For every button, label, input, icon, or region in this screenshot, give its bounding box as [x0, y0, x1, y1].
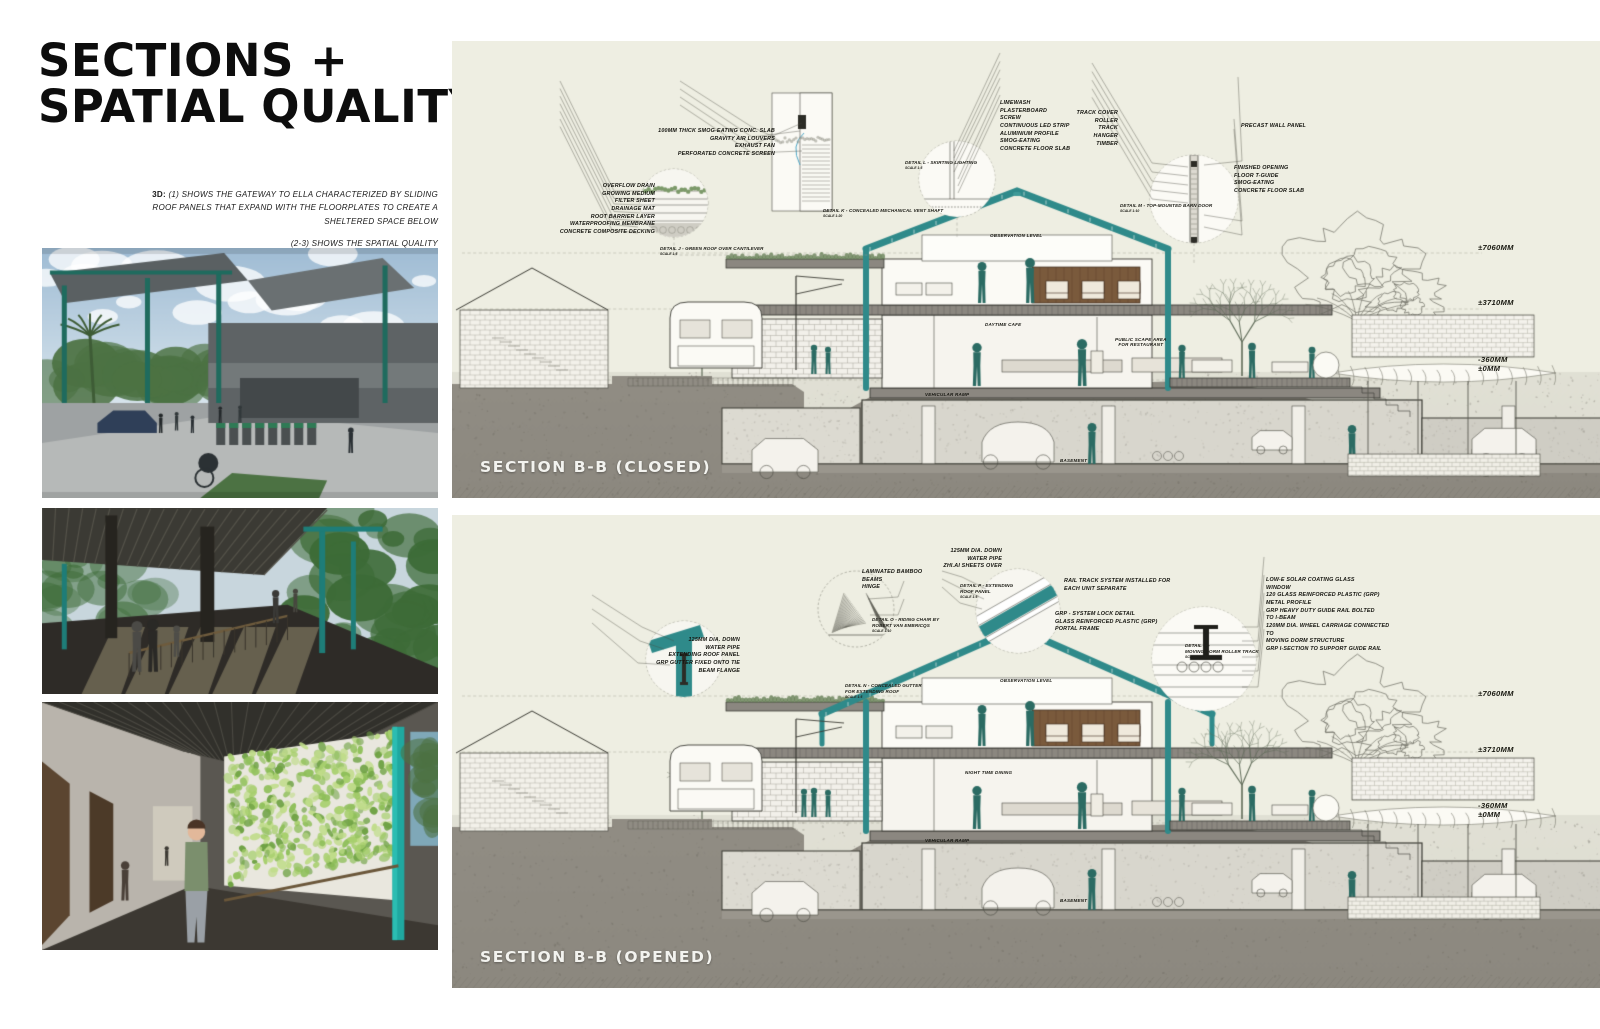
smog-eating-slab-callout: 100MM THICK SMOG-EATING CONC. SLAB GRAVI…	[650, 128, 775, 159]
caption-main-line: 3D: (1) SHOWS THE GATEWAY TO ELLA CHARAC…	[150, 188, 438, 228]
walkway-render	[42, 508, 438, 694]
moving-dorm-roller-callout: LOW-E SOLAR COATING GLASS WINDOW 120 GLA…	[1266, 577, 1390, 654]
detail-scale-note: SCALE 1:5	[960, 595, 1013, 600]
detail-q-caption: DETAIL Q - MOVING DORM ROLLER TRACKSCALE…	[1185, 643, 1259, 660]
level-marker: -360MM ±0MM	[1478, 801, 1508, 819]
detail-caption-text: DETAIL Q - MOVING DORM ROLLER TRACK	[1185, 643, 1259, 654]
level-marker: ±3710MM	[1478, 745, 1514, 754]
space-label: OBSERVATION LEVEL	[990, 233, 1042, 238]
green-wall-corridor-render	[42, 702, 438, 950]
caption-prefix: 3D:	[152, 190, 166, 199]
level-marker: -360MM ±0MM	[1478, 355, 1508, 373]
title-line-2: SPATIAL QUALITY	[38, 84, 438, 130]
presentation-board: SECTIONS + SPATIAL QUALITY 3D: (1) SHOWS…	[0, 0, 1600, 1029]
section-drawing-opened: SECTION B-B (OPENED)	[452, 515, 1600, 988]
space-label: PUBLIC SCAPE AREA FOR RESTAURANT	[1115, 337, 1167, 347]
detail-caption-text: DETAIL O - RIDING CHAIR BY ROBERT VAN EM…	[872, 617, 939, 628]
detail-scale-note: SCALE 1:5	[660, 252, 764, 257]
barn-door-left-callout: TRACK COVER ROLLER TRACK HANGER TIMBER	[1040, 110, 1118, 148]
detail-scale-note: SCALE 1:5	[905, 166, 977, 171]
section-title-closed: SECTION B-B (CLOSED)	[480, 458, 711, 476]
space-label: DAYTIME CAFE	[985, 322, 1021, 327]
level-marker: ±3710MM	[1478, 298, 1514, 307]
space-label: BASEMENT	[1060, 898, 1087, 903]
detail-caption-text: DETAIL N - CONCEALED GUTTER FOR EXTENDIN…	[845, 683, 922, 694]
rail-track-callout: RAIL TRACK SYSTEM INSTALLED FOR EACH UNI…	[1064, 578, 1186, 593]
gateway-canopy-render	[42, 248, 438, 498]
riding-chair-callout: LAMINATED BAMBOO BEAMS HINGE	[862, 569, 972, 592]
detail-scale-note: SCALE 1:10	[872, 629, 939, 634]
caption-main-text: (1) SHOWS THE GATEWAY TO ELLA CHARACTERI…	[152, 190, 438, 226]
space-label: VEHICULAR RAMP	[925, 838, 969, 843]
barn-door-right-callout: PRECAST WALL PANEL	[1241, 123, 1353, 131]
detail-m-caption: DETAIL M - TOP-MOUNTED BARN DOORSCALE 1:…	[1120, 203, 1212, 214]
detail-caption-text: DETAIL P - EXTENDING ROOF PANEL	[960, 583, 1013, 594]
detail-p-caption: DETAIL P - EXTENDING ROOF PANELSCALE 1:5	[960, 583, 1013, 600]
space-label: NIGHT TIME DINING	[965, 770, 1012, 775]
caption-block: 3D: (1) SHOWS THE GATEWAY TO ELLA CHARAC…	[150, 188, 438, 250]
detail-l-caption: DETAIL L - SKIRTING LIGHTINGSCALE 1:5	[905, 160, 977, 171]
extending-roof-panel-callout: 125MM DIA. DOWN WATER PIPE ZHI.AI SHEETS…	[890, 548, 1002, 571]
space-label: OBSERVATION LEVEL	[1000, 678, 1052, 683]
detail-scale-note: SCALE 1:10	[1120, 209, 1212, 214]
concealed-gutter-callout: 125MM DIA. DOWN WATER PIPE EXTENDING ROO…	[620, 637, 740, 675]
detail-caption-text: DETAIL L - SKIRTING LIGHTING	[905, 160, 977, 165]
detail-k-caption: DETAIL K - CONCEALED MECHANICAL VENT SHA…	[823, 208, 943, 219]
detail-caption-text: DETAIL M - TOP-MOUNTED BARN DOOR	[1120, 203, 1212, 208]
detail-scale-note: SCALE 1:5	[1185, 655, 1259, 660]
level-marker: ±7060MM	[1478, 689, 1514, 698]
level-marker: ±7060MM	[1478, 243, 1514, 252]
grp-portal-frame-callout: GRP - SYSTEM LOCK DETAIL GLASS REINFORCE…	[1055, 611, 1177, 634]
detail-scale-note: SCALE 1:5	[845, 695, 922, 700]
left-column: SECTIONS + SPATIAL QUALITY 3D: (1) SHOWS…	[0, 0, 452, 1029]
title-line-1: SECTIONS +	[38, 38, 438, 84]
detail-caption-text: DETAIL J - GREEN ROOF OVER CANTILEVER	[660, 246, 764, 251]
barn-door-lower-callout: FINISHED OPENING FLOOR T-GUIDE SMOG-EATI…	[1234, 165, 1346, 196]
page-title: SECTIONS + SPATIAL QUALITY	[38, 38, 438, 130]
detail-scale-note: SCALE 1:20	[823, 214, 943, 219]
green-roof-callout: OVERFLOW DRAIN GROWING MEDIUM FILTER SHE…	[533, 183, 655, 237]
section-title-opened: SECTION B-B (OPENED)	[480, 948, 714, 966]
detail-o-caption: DETAIL O - RIDING CHAIR BY ROBERT VAN EM…	[872, 617, 939, 634]
detail-n-caption: DETAIL N - CONCEALED GUTTER FOR EXTENDIN…	[845, 683, 922, 700]
space-label: BASEMENT	[1060, 458, 1087, 463]
detail-j-caption: DETAIL J - GREEN ROOF OVER CANTILEVERSCA…	[660, 246, 764, 257]
detail-caption-text: DETAIL K - CONCEALED MECHANICAL VENT SHA…	[823, 208, 943, 213]
space-label: VEHICULAR RAMP	[925, 392, 969, 397]
